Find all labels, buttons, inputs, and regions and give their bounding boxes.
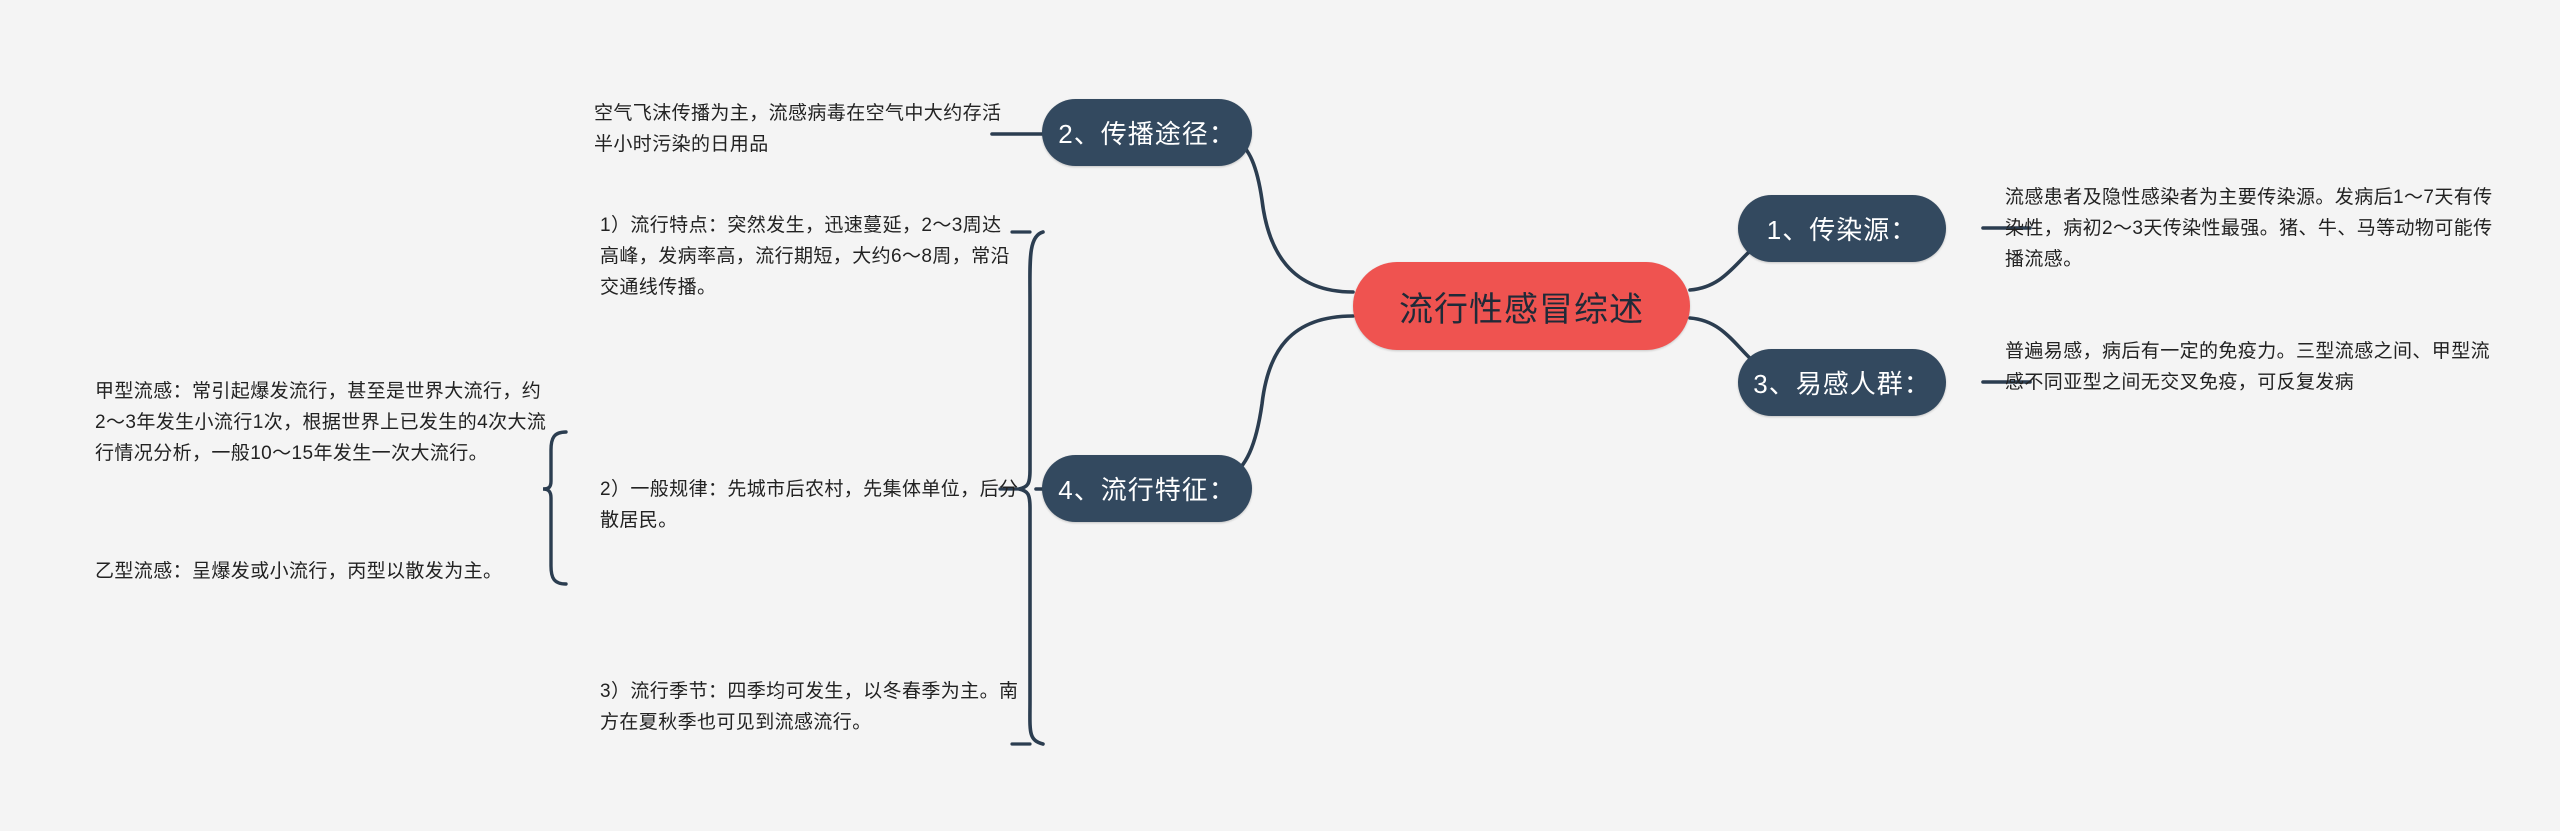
detail-text-transmission-route: 空气飞沫传播为主，流感病毒在空气中大约存活半小时污染的日用品 (594, 98, 1006, 160)
center-node[interactable]: 流行性感冒综述 (1353, 262, 1690, 350)
brace-features-vertical (1019, 232, 1043, 744)
branch-node-transmission-route[interactable]: 2、传播途径： (1042, 99, 1252, 166)
center-node-label: 流行性感冒综述 (1399, 282, 1644, 331)
subitem-text-type-b-influenza: 乙型流感：呈爆发或小流行，丙型以散发为主。 (95, 556, 547, 587)
mindmap-canvas: 流行性感冒综述 2、传播途径： 1、传染源： 3、易感人群： 4、流行特征： 空… (0, 0, 2560, 831)
branch-node-infection-source[interactable]: 1、传染源： (1738, 195, 1946, 262)
detail-text-susceptible-population: 普遍易感，病后有一定的免疫力。三型流感之间、甲型流感不同亚型之间无交叉免疫，可反… (2005, 336, 2505, 398)
feature-text-2: 2）一般规律：先城市后农村，先集体单位，后分散居民。 (600, 474, 1020, 536)
detail-text-infection-source: 流感患者及隐性感染者为主要传染源。发病后1～7天有传染性，病初2～3天传染性最强… (2005, 182, 2505, 275)
branch-label-transmission-route: 2、传播途径： (1058, 114, 1235, 151)
branch-label-susceptible-population: 3、易感人群： (1753, 364, 1930, 401)
branch-node-epidemic-features[interactable]: 4、流行特征： (1042, 455, 1252, 522)
subitem-text-type-a-influenza: 甲型流感：常引起爆发流行，甚至是世界大流行，约2～3年发生小流行1次，根据世界上… (95, 376, 547, 469)
branch-label-infection-source: 1、传染源： (1767, 210, 1917, 247)
branch-node-susceptible-population[interactable]: 3、易感人群： (1738, 349, 1946, 416)
feature-text-1: 1）流行特点：突然发生，迅速蔓延，2～3周达高峰，发病率高，流行期短，大约6～8… (600, 210, 1020, 303)
feature-text-3: 3）流行季节：四季均可发生，以冬春季为主。南方在夏秋季也可见到流感流行。 (600, 676, 1020, 738)
branch-label-epidemic-features: 4、流行特征： (1058, 470, 1235, 507)
